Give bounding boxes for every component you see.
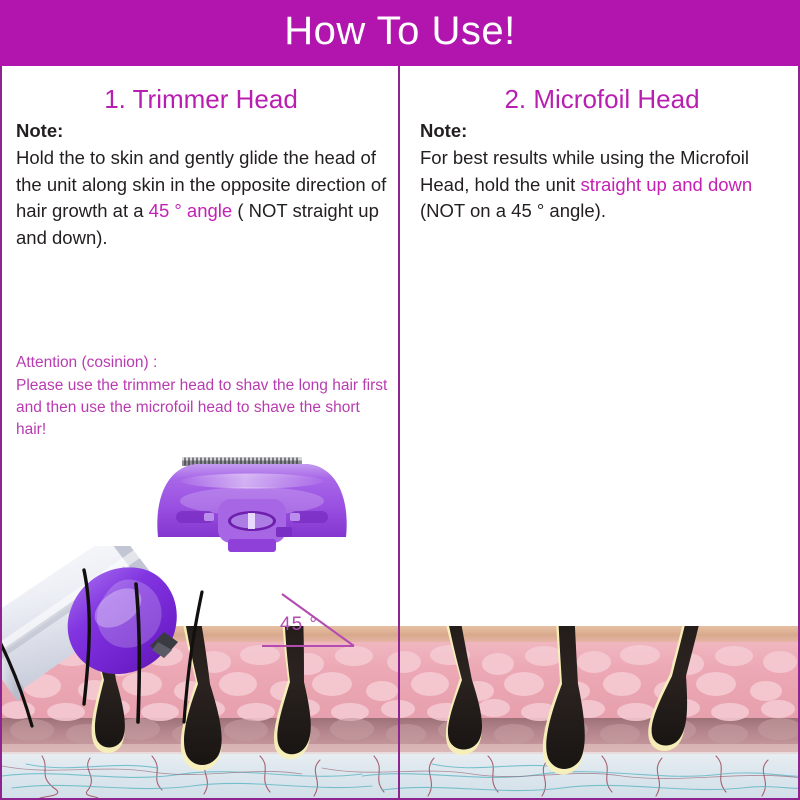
trimmer-head-attachment-image	[152, 451, 352, 556]
note-text-highlight-45-angle: 45 ° angle	[149, 200, 233, 221]
note-block-trimmer: Note: Hold the to skin and gently glide …	[16, 120, 388, 252]
attention-block-trimmer: Attention (cosinion) : Please use the tr…	[16, 352, 391, 441]
attention-title: Attention (cosinion) :	[16, 352, 391, 374]
note-label-trimmer: Note:	[16, 120, 388, 142]
note-body-microfoil: For best results while using the Microfo…	[420, 145, 792, 225]
angle-45-label: 45 °	[280, 614, 318, 636]
tilted-handheld-unit-image	[2, 546, 268, 736]
page-title: How To Use!	[284, 11, 516, 55]
infographic-page: How To Use! 1. Trimmer Head Note: Hold t…	[0, 0, 800, 800]
content-frame: 1. Trimmer Head Note: Hold the to skin a…	[0, 66, 800, 800]
note-text-highlight-straight-up-down: straight up and down	[580, 174, 752, 195]
skin-hypodermis-layer	[2, 752, 800, 798]
note-body-trimmer: Hold the to skin and gently glide the he…	[16, 145, 388, 252]
panel-title-trimmer: 1. Trimmer Head	[2, 84, 400, 115]
note-label-microfoil: Note:	[420, 120, 792, 142]
attention-body: Please use the trimmer head to shav the …	[16, 375, 391, 441]
panel-title-microfoil: 2. Microfoil Head	[402, 84, 800, 115]
page-header-banner: How To Use!	[0, 0, 800, 66]
panel-divider	[398, 66, 400, 800]
note-text-segment-plain-4: (NOT on a 45 ° angle).	[420, 200, 606, 221]
note-block-microfoil: Note: For best results while using the M…	[420, 120, 792, 225]
